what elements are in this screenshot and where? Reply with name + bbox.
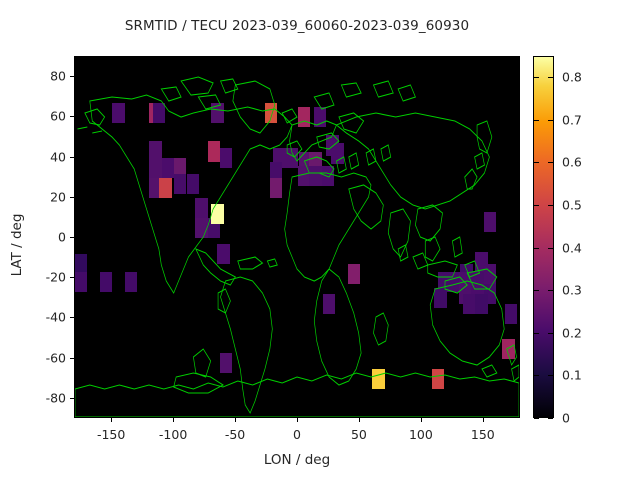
x-tick <box>359 418 360 422</box>
heatmap-cell <box>323 294 335 314</box>
heatmap-cell <box>484 212 496 232</box>
heatmap-cell <box>502 339 514 359</box>
heatmap-cell <box>484 264 496 284</box>
heatmap-cell <box>100 272 112 292</box>
colorbar-tick-label: 0.5 <box>562 198 582 213</box>
colorbar-tick <box>548 290 553 291</box>
colorbar[interactable] <box>533 56 554 418</box>
heatmap-cell <box>309 166 321 186</box>
x-tick <box>483 418 484 422</box>
colorbar-tick <box>534 77 539 78</box>
y-tick-label: 80 <box>22 69 66 84</box>
colorbar-tick <box>534 120 539 121</box>
colorbar-tick-label: 0.4 <box>562 240 582 255</box>
heatmap-cell <box>174 174 186 194</box>
colorbar-tick <box>548 162 553 163</box>
colorbar-tick <box>534 290 539 291</box>
y-tick-label: 60 <box>22 109 66 124</box>
heatmap-cell <box>298 107 310 127</box>
colorbar-tick-label: 0 <box>562 411 570 426</box>
figure: SRMTID / TECU 2023-039_60060-2023-039_60… <box>0 0 640 480</box>
colorbar-tick <box>548 248 553 249</box>
y-tick-label: 40 <box>22 149 66 164</box>
colorbar-tick <box>548 120 553 121</box>
y-tick-label: -40 <box>22 310 66 325</box>
x-axis-title: LON / deg <box>74 452 520 468</box>
x-tick <box>297 418 298 422</box>
heatmap-cell <box>475 294 487 314</box>
y-tick <box>70 358 74 359</box>
heatmap-cell <box>153 103 165 123</box>
heatmap-cell <box>372 369 384 389</box>
y-tick <box>70 116 74 117</box>
heatmap-cell <box>432 369 444 389</box>
colorbar-tick <box>534 162 539 163</box>
heatmap-cell <box>159 178 171 198</box>
x-tick <box>111 418 112 422</box>
colorbar-tick <box>548 205 553 206</box>
heatmap-cell <box>331 143 343 163</box>
y-tick-label: 0 <box>22 230 66 245</box>
heatmap-cell <box>125 272 137 292</box>
colorbar-tick <box>548 333 553 334</box>
colorbar-tick-label: 0.8 <box>562 70 582 85</box>
x-tick-label: 100 <box>409 427 433 442</box>
heatmap-cell <box>195 198 207 218</box>
heatmap-cell <box>162 158 174 178</box>
heatmap-cell <box>211 103 223 123</box>
y-tick-label: 20 <box>22 189 66 204</box>
y-tick <box>70 157 74 158</box>
y-tick <box>70 76 74 77</box>
y-tick <box>70 398 74 399</box>
map-plot-area[interactable] <box>74 56 520 418</box>
y-tick <box>70 237 74 238</box>
x-tick-label: 0 <box>293 427 301 442</box>
heatmap-cell <box>75 254 87 274</box>
x-tick-label: -100 <box>159 427 187 442</box>
colorbar-tick <box>548 375 553 376</box>
colorbar-tick <box>534 418 539 419</box>
heatmap-cell <box>505 304 517 324</box>
heatmap-cell <box>187 174 199 194</box>
colorbar-tick <box>534 205 539 206</box>
y-tick <box>70 277 74 278</box>
heatmap-cell <box>270 178 282 198</box>
heatmap-cell <box>265 103 277 123</box>
colorbar-tick <box>548 418 553 419</box>
colorbar-tick-label: 0.7 <box>562 112 582 127</box>
heatmap-cell <box>463 294 475 314</box>
y-tick <box>70 317 74 318</box>
heatmap-cell <box>149 158 161 178</box>
heatmap-cell <box>75 272 87 292</box>
colorbar-tick <box>548 77 553 78</box>
x-tick-label: 50 <box>351 427 367 442</box>
x-tick <box>235 418 236 422</box>
colorbar-tick-label: 0.3 <box>562 283 582 298</box>
colorbar-tick <box>534 333 539 334</box>
heatmap-cell <box>211 204 223 224</box>
colorbar-tick-label: 0.2 <box>562 325 582 340</box>
colorbar-tick <box>534 375 539 376</box>
heatmap-cells <box>75 57 519 417</box>
page-title: SRMTID / TECU 2023-039_60060-2023-039_60… <box>0 18 594 34</box>
heatmap-cell <box>434 288 446 308</box>
y-axis-title: LAT / deg <box>9 165 25 325</box>
x-tick-label: -150 <box>97 427 125 442</box>
x-tick-label: 150 <box>471 427 495 442</box>
y-tick-label: -80 <box>22 390 66 405</box>
y-tick <box>70 197 74 198</box>
heatmap-cell <box>314 107 326 127</box>
heatmap-cell <box>208 141 220 161</box>
heatmap-cell <box>220 148 232 168</box>
y-tick-label: -20 <box>22 270 66 285</box>
colorbar-tick <box>534 248 539 249</box>
colorbar-tick-label: 0.6 <box>562 155 582 170</box>
y-tick-label: -60 <box>22 350 66 365</box>
x-tick <box>421 418 422 422</box>
heatmap-cell <box>195 218 207 238</box>
heatmap-cell <box>348 264 360 284</box>
heatmap-cell <box>322 166 334 186</box>
heatmap-cell <box>220 353 232 373</box>
heatmap-cell <box>217 244 229 264</box>
heatmap-cell <box>112 103 124 123</box>
colorbar-tick-label: 0.1 <box>562 368 582 383</box>
heatmap-cell <box>286 148 298 168</box>
x-tick-label: -50 <box>225 427 245 442</box>
x-tick <box>173 418 174 422</box>
